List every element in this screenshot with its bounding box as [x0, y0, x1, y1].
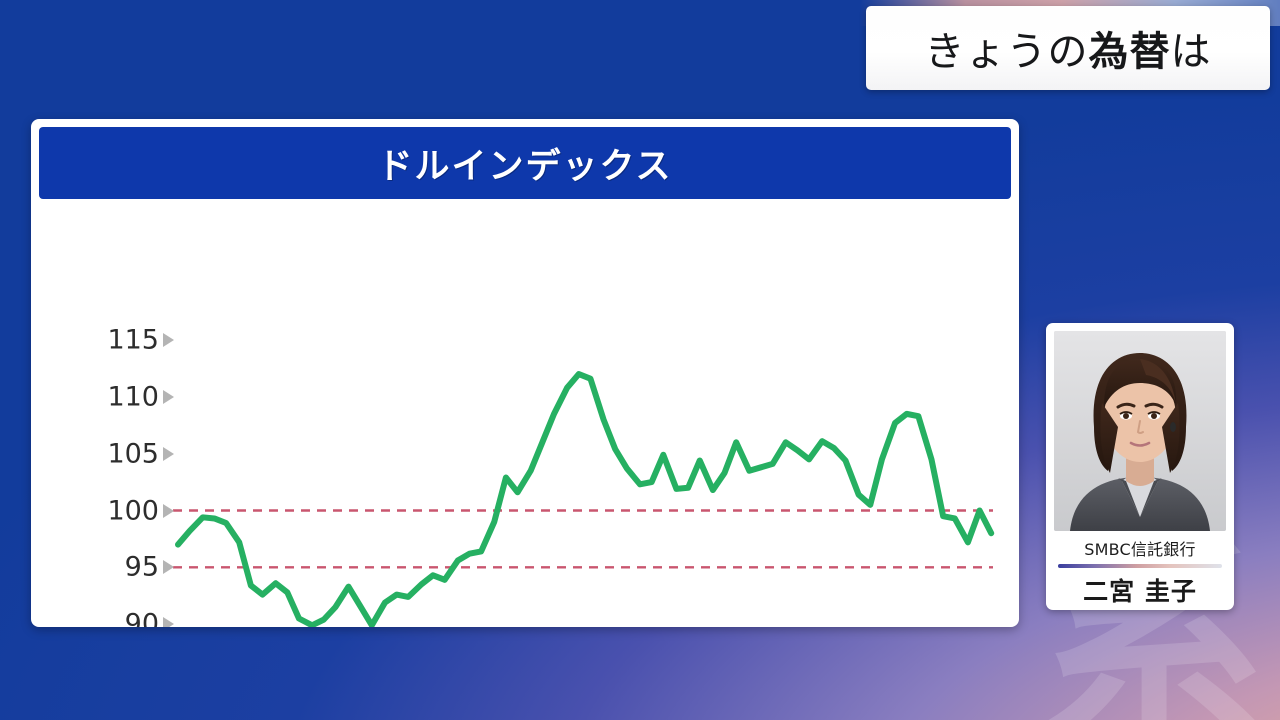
y-axis-label-105: 105	[99, 438, 159, 469]
header-title: きょうの為替は	[925, 19, 1212, 77]
chart-title: ドルインデックス	[378, 138, 673, 189]
header-title-part-1: きょうの	[925, 29, 1089, 75]
data-line-0	[178, 374, 991, 625]
presenter-photo	[1054, 331, 1226, 531]
y-axis-label-115: 115	[99, 325, 159, 356]
presenter-accent-bar	[1058, 564, 1222, 568]
presenter-name: 二宮 圭子	[1054, 572, 1226, 608]
y-axis-label-110: 110	[99, 381, 159, 412]
presenter-card: SMBC信託銀行 二宮 圭子	[1046, 323, 1234, 610]
chart-card: ドルインデックス 115110105100959085 202122232425…	[31, 119, 1019, 627]
y-axis-arrow-100	[163, 504, 174, 518]
data-series-group	[178, 374, 991, 625]
chart-plot-area: 115110105100959085 202122232425年	[31, 201, 1019, 627]
header-title-emphasis: 為替	[1089, 29, 1171, 75]
y-axis-arrow-115	[163, 333, 174, 347]
header-title-part-2: は	[1171, 29, 1212, 75]
y-axis-arrow-95	[163, 560, 174, 574]
y-axis-label-95: 95	[99, 552, 159, 583]
chart-title-bar: ドルインデックス	[39, 127, 1011, 199]
reference-lines-group	[173, 511, 993, 568]
chart-svg	[31, 201, 1019, 627]
y-axis-label-90: 90	[99, 609, 159, 627]
y-axis-arrow-110	[163, 390, 174, 404]
y-axis-label-100: 100	[99, 495, 159, 526]
presenter-portrait-illustration	[1054, 331, 1226, 531]
y-axis-arrow-90	[163, 617, 174, 627]
y-axis-arrow-105	[163, 447, 174, 461]
header-banner: きょうの為替は	[866, 6, 1270, 90]
presenter-organization: SMBC信託銀行	[1054, 536, 1226, 560]
